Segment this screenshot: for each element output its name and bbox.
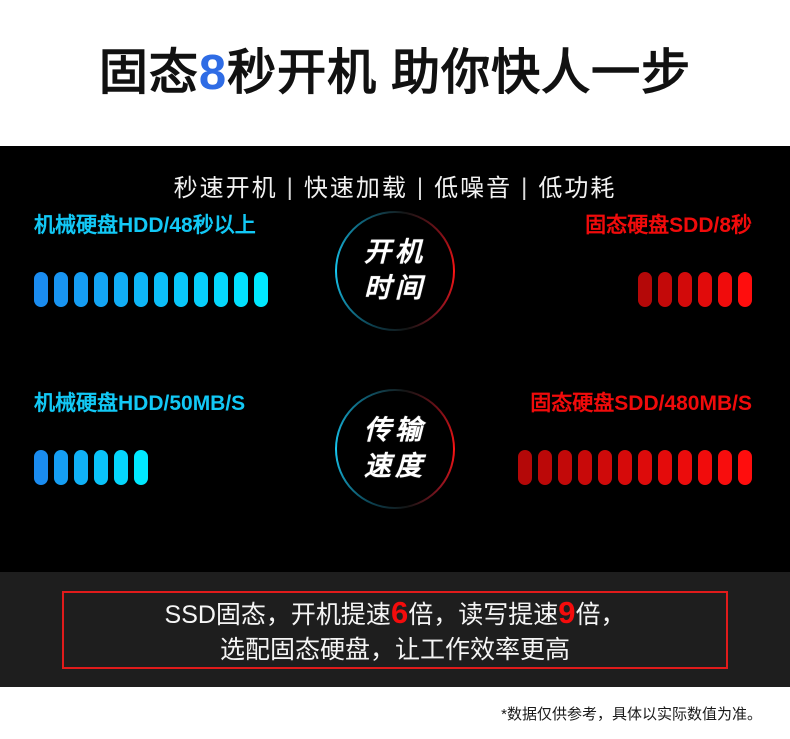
- medallion-boot-time-inner: 开机 时间: [337, 213, 453, 329]
- header: 固态8秒开机助你快人一步: [0, 0, 790, 146]
- indicator-bar: [538, 450, 552, 485]
- callout-number-rw: 9: [558, 595, 575, 630]
- feature-separator-2: |: [512, 174, 538, 202]
- medallion-transfer-speed-inner: 传输 速度: [337, 391, 453, 507]
- indicator-bar: [658, 450, 672, 485]
- comparison-panel: 秒速开机|快速加载|低噪音|低功耗 机械硬盘HDD/48秒以上 开机 时间 固态…: [0, 146, 790, 687]
- page-title-accent-number: 8: [199, 46, 227, 100]
- callout-box: SSD固态，开机提速6倍，读写提速9倍， 选配固态硬盘，让工作效率更高: [62, 591, 728, 669]
- indicator-bar: [638, 272, 652, 307]
- indicator-bar: [618, 450, 632, 485]
- indicator-bar: [114, 272, 128, 307]
- indicator-bar: [114, 450, 128, 485]
- indicator-bar: [598, 450, 612, 485]
- indicator-bar: [698, 272, 712, 307]
- indicator-bar: [558, 450, 572, 485]
- hdd-speed-label: 机械硬盘HDD/50MB/S: [34, 393, 334, 414]
- hdd-boot-label: 机械硬盘HDD/48秒以上: [34, 215, 334, 236]
- feature-item-3: 低功耗: [538, 175, 616, 202]
- ssd-speed-block: 固态硬盘SDD/480MB/S: [452, 393, 752, 485]
- indicator-bar: [74, 272, 88, 307]
- indicator-bar: [678, 272, 692, 307]
- indicator-bar: [234, 272, 248, 307]
- feature-item-0: 秒速开机: [174, 175, 278, 202]
- indicator-bar: [134, 272, 148, 307]
- indicator-bar: [578, 450, 592, 485]
- medallion-transfer-speed-line2: 速度: [364, 449, 426, 485]
- indicator-bar: [94, 272, 108, 307]
- page-title-part1: 固态: [99, 46, 199, 100]
- hdd-boot-block: 机械硬盘HDD/48秒以上: [34, 215, 334, 307]
- callout-line2: 选配固态硬盘，让工作效率更高: [220, 636, 570, 664]
- indicator-bar: [254, 272, 268, 307]
- footer-disclaimer: *数据仅供参考，具体以实际数值为准。: [501, 703, 762, 724]
- indicator-bar: [34, 272, 48, 307]
- indicator-bar: [94, 450, 108, 485]
- medallion-boot-time-line1: 开机: [364, 235, 426, 271]
- callout-zone: SSD固态，开机提速6倍，读写提速9倍， 选配固态硬盘，让工作效率更高: [0, 572, 790, 687]
- ssd-boot-block: 固态硬盘SDD/8秒: [452, 215, 752, 307]
- indicator-bar: [698, 450, 712, 485]
- feature-item-2: 低噪音: [434, 175, 512, 202]
- indicator-bar: [54, 450, 68, 485]
- indicator-bar: [134, 450, 148, 485]
- callout-line1-a: SSD固态，开机提速: [165, 601, 391, 629]
- indicator-bar: [174, 272, 188, 307]
- indicator-bar: [738, 272, 752, 307]
- page-title-part2: 秒开机: [227, 46, 377, 100]
- indicator-bar: [678, 450, 692, 485]
- medallion-transfer-speed-line1: 传输: [364, 413, 426, 449]
- indicator-bar: [518, 450, 532, 485]
- indicator-bar: [718, 272, 732, 307]
- indicator-bar: [34, 450, 48, 485]
- indicator-bar: [214, 272, 228, 307]
- page-title: 固态8秒开机助你快人一步: [99, 49, 691, 98]
- medallion-transfer-speed: 传输 速度: [335, 389, 455, 509]
- feature-item-1: 快速加载: [304, 175, 408, 202]
- indicator-bar: [658, 272, 672, 307]
- hdd-boot-bars: [34, 272, 334, 307]
- ssd-boot-label: 固态硬盘SDD/8秒: [452, 215, 752, 236]
- callout-line1-b: 倍，读写提速: [408, 601, 558, 629]
- page-title-part3: 助你快人一步: [391, 46, 691, 100]
- hdd-speed-bars: [34, 450, 334, 485]
- indicator-bar: [718, 450, 732, 485]
- comparison-row-transfer-speed: 机械硬盘HDD/50MB/S 传输 速度 固态硬盘SDD/480MB/S: [0, 393, 790, 543]
- ssd-speed-label: 固态硬盘SDD/480MB/S: [452, 393, 752, 414]
- indicator-bar: [74, 450, 88, 485]
- footer: *数据仅供参考，具体以实际数值为准。: [0, 687, 790, 739]
- indicator-bar: [638, 450, 652, 485]
- indicator-bar: [154, 272, 168, 307]
- callout-line1-c: 倍，: [575, 601, 625, 629]
- feature-separator-0: |: [278, 174, 304, 202]
- ssd-speed-bars: [452, 450, 752, 485]
- callout-number-boot: 6: [391, 595, 408, 630]
- feature-separator-1: |: [408, 174, 434, 202]
- indicator-bar: [54, 272, 68, 307]
- feature-subtitle: 秒速开机|快速加载|低噪音|低功耗: [0, 168, 790, 203]
- medallion-boot-time-line2: 时间: [364, 271, 426, 307]
- medallion-boot-time: 开机 时间: [335, 211, 455, 331]
- callout-text: SSD固态，开机提速6倍，读写提速9倍， 选配固态硬盘，让工作效率更高: [165, 592, 626, 667]
- indicator-bar: [738, 450, 752, 485]
- indicator-bar: [194, 272, 208, 307]
- ssd-boot-bars: [452, 272, 752, 307]
- hdd-speed-block: 机械硬盘HDD/50MB/S: [34, 393, 334, 485]
- comparison-row-boot-time: 机械硬盘HDD/48秒以上 开机 时间 固态硬盘SDD/8秒: [0, 215, 790, 365]
